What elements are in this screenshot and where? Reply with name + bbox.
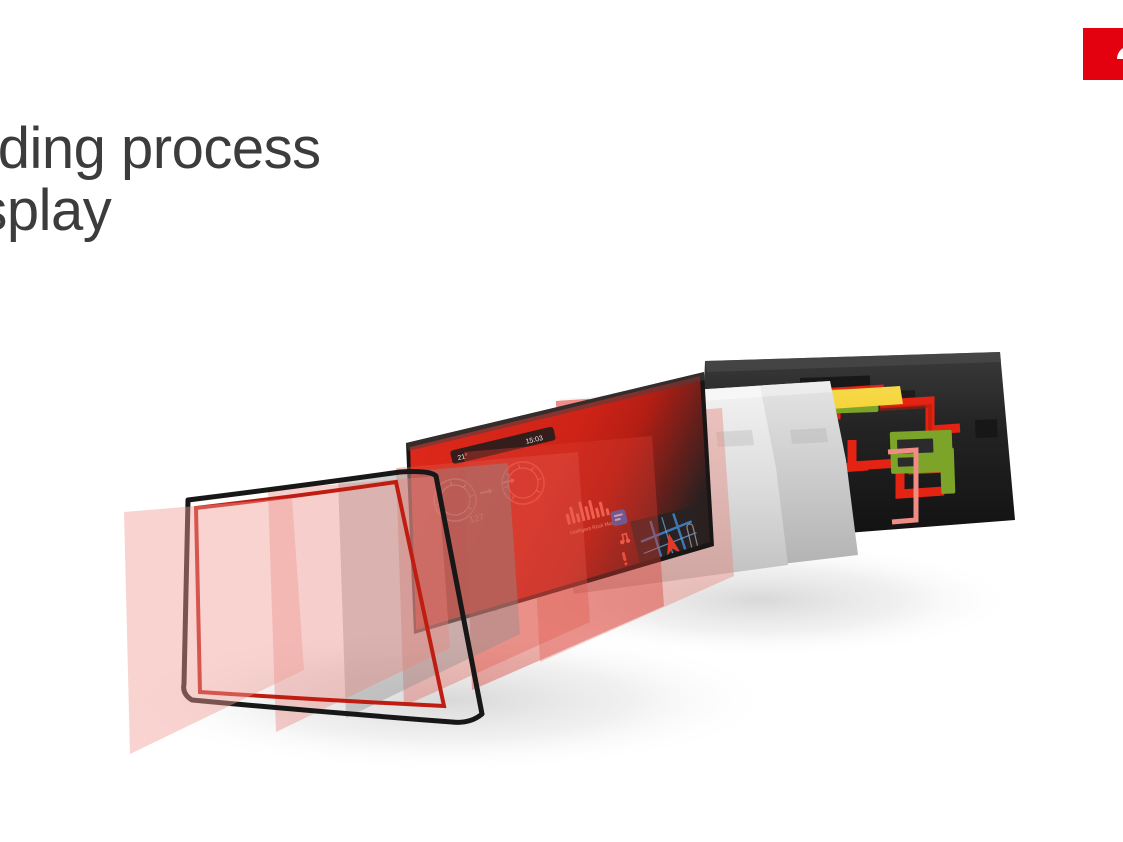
exploded-display-diagram: 21° 15:03: [0, 0, 1123, 842]
slide-canvas: nding process isplay: [0, 0, 1123, 842]
